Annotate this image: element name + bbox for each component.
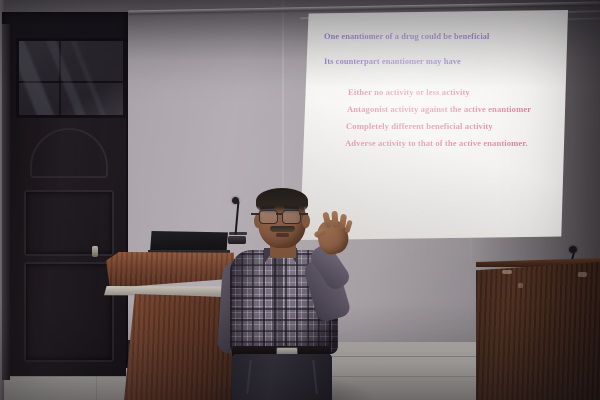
door-transom-glass [16, 38, 126, 118]
wood-grain [476, 262, 600, 400]
slide-line-5: Completely different beneficial activity [346, 121, 493, 131]
trousers [232, 354, 332, 400]
speaker-ear-right [302, 214, 310, 228]
lectern-knob [92, 246, 98, 257]
desk-scuff [502, 270, 512, 274]
trouser-pocket-seam [312, 360, 317, 394]
finger [331, 211, 338, 228]
door-arch-moulding [30, 128, 108, 178]
speaker-moustache [270, 226, 295, 232]
speaker [214, 186, 364, 400]
slide-line-2: Its counterpart enantiomer may have [324, 57, 461, 66]
slide-line-3: Either no activity or less activity [348, 87, 470, 97]
shirt-placket [272, 252, 283, 352]
desk-scuff [578, 272, 587, 277]
door-panel-upper [24, 190, 114, 256]
eyeglass-arm-right [299, 213, 308, 215]
door-jamb [2, 24, 10, 380]
eyeglass-bridge [276, 213, 282, 215]
door-leaf[interactable] [8, 118, 126, 376]
door-frame [2, 12, 128, 368]
door-panel-lower [24, 262, 114, 362]
slide-line-1: One enantiomer of a drug could be benefi… [324, 32, 489, 41]
speaker-mouth [276, 233, 289, 237]
desk-scuff [518, 283, 523, 288]
slide-line-6: Adverse activity to that of the active e… [345, 138, 528, 148]
desk [476, 262, 600, 400]
slide-line-4: Antagonist activity against the active e… [347, 104, 531, 114]
lecture-photo: One enantiomer of a drug could be benefi… [0, 0, 600, 400]
trouser-pocket-seam [246, 360, 251, 394]
eyeglass-arm-left [251, 213, 260, 215]
desk-microphone-head [569, 246, 577, 253]
